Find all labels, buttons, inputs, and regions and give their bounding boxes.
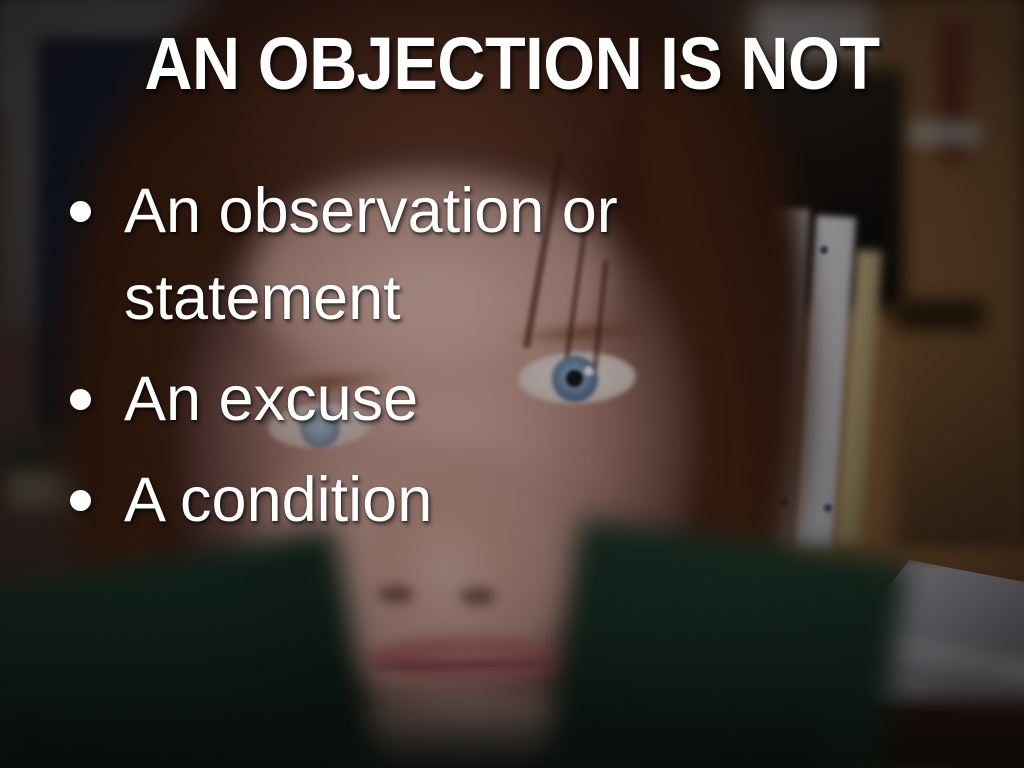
- bullet-dot-icon: [70, 389, 91, 410]
- slide-title: AN OBJECTION IS NOT: [51, 26, 973, 101]
- bullet-dot-icon: [70, 490, 91, 511]
- bullet-item: An observation or statement: [56, 168, 684, 342]
- bullet-item-label: A condition: [124, 457, 684, 544]
- bullet-item: A condition: [56, 457, 684, 544]
- bullet-item-label: An observation or statement: [124, 168, 684, 342]
- bullet-item: An excuse: [56, 356, 684, 443]
- bullet-list: An observation or statement An excuse A …: [56, 168, 984, 544]
- presentation-slide: AN OBJECTION IS NOT An observation or st…: [0, 0, 1024, 768]
- slide-content: AN OBJECTION IS NOT An observation or st…: [0, 0, 1024, 768]
- bullet-item-label: An excuse: [124, 356, 684, 443]
- bullet-dot-icon: [70, 201, 91, 222]
